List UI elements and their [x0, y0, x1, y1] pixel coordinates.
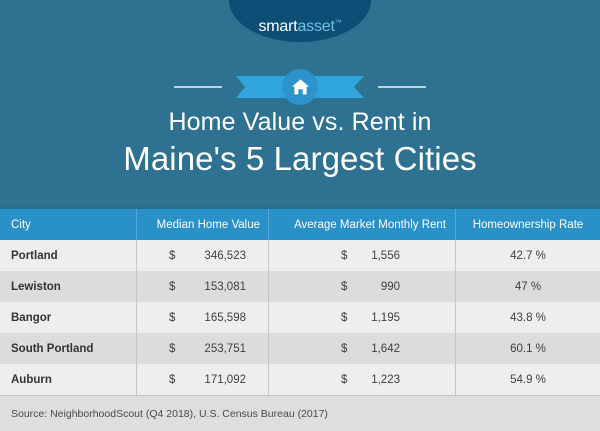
column-header-homeownership-rate: Homeownership Rate	[455, 209, 600, 240]
brand-logo-text: smartasset™	[258, 19, 341, 35]
source-footer: Source: NeighborhoodScout (Q4 2018), U.S…	[0, 396, 600, 431]
currency-symbol: $	[341, 312, 347, 324]
currency-symbol: $	[169, 281, 175, 293]
currency-symbol: $	[341, 374, 347, 386]
ribbon-banner	[236, 64, 364, 110]
cell-median-home-value-amount: 346,523	[204, 250, 246, 262]
cell-homeownership-rate: 47 %	[455, 271, 600, 302]
cell-average-market-monthly-rent-amount: 1,556	[371, 250, 400, 262]
title-line-2: Maine's 5 Largest Cities	[0, 140, 600, 179]
cell-median-home-value: $ 153,081	[136, 271, 268, 302]
table-row: Auburn $ 171,092 $ 1,223 54.9 %	[0, 364, 600, 395]
cell-average-market-monthly-rent: $ 1,642	[268, 333, 455, 364]
cell-average-market-monthly-rent-amount: 990	[381, 281, 400, 293]
table-header-row: City Median Home Value Average Market Mo…	[0, 209, 600, 240]
cell-median-home-value: $ 253,751	[136, 333, 268, 364]
data-table: City Median Home Value Average Market Mo…	[0, 206, 600, 396]
divider-rule-right	[378, 86, 426, 88]
currency-symbol: $	[341, 250, 347, 262]
cell-average-market-monthly-rent: $ 1,223	[268, 364, 455, 395]
currency-symbol: $	[169, 250, 175, 262]
cell-median-home-value-amount: 171,092	[204, 374, 246, 386]
cell-homeownership-rate: 60.1 %	[455, 333, 600, 364]
table-row: Portland $ 346,523 $ 1,556 42.7 %	[0, 240, 600, 271]
table-row: Lewiston $ 153,081 $ 990 47 %	[0, 271, 600, 302]
table-row: Bangor $ 165,598 $ 1,195 43.8 %	[0, 302, 600, 333]
brand-logo-secondary: asset	[297, 18, 334, 35]
cell-homeownership-rate: 42.7 %	[455, 240, 600, 271]
cell-median-home-value-amount: 165,598	[204, 312, 246, 324]
divider-rule-left	[174, 86, 222, 88]
cell-city: Bangor	[0, 302, 136, 333]
brand-logo-primary: smart	[258, 18, 297, 35]
cell-average-market-monthly-rent-amount: 1,642	[371, 343, 400, 355]
cell-city: Auburn	[0, 364, 136, 395]
column-header-city: City	[0, 209, 136, 240]
ribbon-divider	[0, 64, 600, 110]
cell-homeownership-rate: 43.8 %	[455, 302, 600, 333]
currency-symbol: $	[169, 374, 175, 386]
cell-average-market-monthly-rent: $ 1,556	[268, 240, 455, 271]
cell-average-market-monthly-rent-amount: 1,223	[371, 374, 400, 386]
cell-median-home-value-amount: 153,081	[204, 281, 246, 293]
trademark-icon: ™	[335, 20, 342, 27]
cell-average-market-monthly-rent-amount: 1,195	[371, 312, 400, 324]
cell-median-home-value: $ 165,598	[136, 302, 268, 333]
brand-logo-badge: smartasset™	[229, 0, 371, 42]
house-icon	[291, 78, 310, 96]
column-header-median-home-value: Median Home Value	[136, 209, 268, 240]
ribbon-circle-badge	[282, 69, 318, 105]
cell-average-market-monthly-rent: $ 990	[268, 271, 455, 302]
currency-symbol: $	[169, 343, 175, 355]
currency-symbol: $	[341, 281, 347, 293]
cell-median-home-value: $ 346,523	[136, 240, 268, 271]
cell-homeownership-rate: 54.9 %	[455, 364, 600, 395]
cell-average-market-monthly-rent: $ 1,195	[268, 302, 455, 333]
cell-median-home-value-amount: 253,751	[204, 343, 246, 355]
table-row: South Portland $ 253,751 $ 1,642 60.1 %	[0, 333, 600, 364]
source-text: Source: NeighborhoodScout (Q4 2018), U.S…	[11, 408, 328, 420]
title-line-1: Home Value vs. Rent in	[0, 108, 600, 138]
page-title: Home Value vs. Rent in Maine's 5 Largest…	[0, 108, 600, 178]
currency-symbol: $	[169, 312, 175, 324]
cell-city: Portland	[0, 240, 136, 271]
cell-median-home-value: $ 171,092	[136, 364, 268, 395]
cell-city: Lewiston	[0, 271, 136, 302]
currency-symbol: $	[341, 343, 347, 355]
column-header-average-market-monthly-rent: Average Market Monthly Rent	[268, 209, 455, 240]
cell-city: South Portland	[0, 333, 136, 364]
